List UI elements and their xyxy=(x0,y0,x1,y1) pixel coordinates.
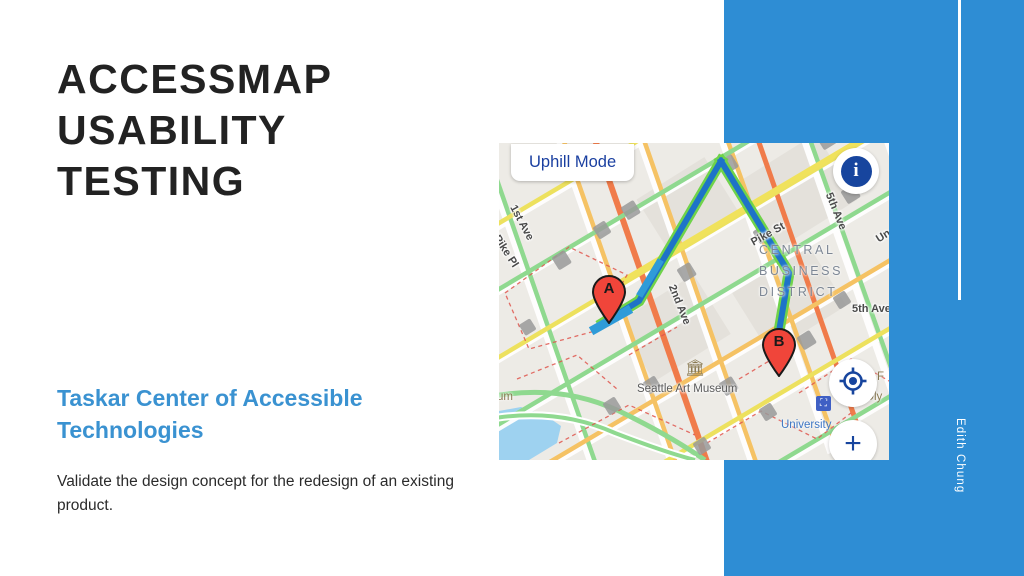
plus-icon: + xyxy=(844,429,862,459)
map-pin-a[interactable]: A xyxy=(590,274,628,324)
transit-station-icon: ⛶ xyxy=(816,396,831,411)
page-title: ACCESSMAP USABILITY TESTING xyxy=(57,54,457,206)
body-paragraph: Validate the design concept for the rede… xyxy=(57,470,462,517)
info-button[interactable]: i xyxy=(833,148,879,194)
map-pin-b[interactable]: B xyxy=(760,327,798,377)
author-name: Edith Chung xyxy=(944,418,966,493)
info-icon: i xyxy=(841,156,872,187)
panel-divider-line xyxy=(958,0,961,300)
uphill-mode-button[interactable]: Uphill Mode xyxy=(511,144,634,181)
subtitle: Taskar Center of Accessible Technologies xyxy=(57,383,457,446)
map-tiles xyxy=(499,143,889,460)
zoom-in-button[interactable]: + xyxy=(829,420,877,460)
slide-root: Edith Chung ACCESSMAP USABILITY TESTING … xyxy=(0,0,1024,576)
crosshair-locate-icon xyxy=(839,367,867,400)
museum-icon: 🏛 xyxy=(685,361,705,377)
uphill-mode-label: Uphill Mode xyxy=(529,153,616,172)
map-screenshot[interactable]: 1st Ave Pike Pl Pike St 2nd Ave 5th Ave … xyxy=(499,143,889,460)
locate-button[interactable] xyxy=(829,359,877,407)
